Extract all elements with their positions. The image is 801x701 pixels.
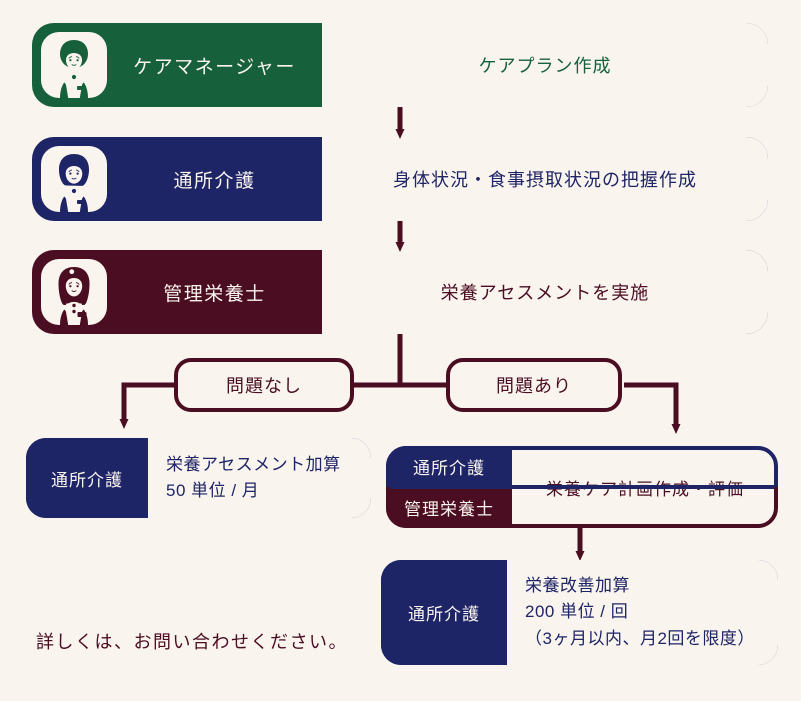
outcome-role-tag: 通所介護 (26, 438, 148, 518)
stage-role-label: 通所介護 (107, 166, 322, 193)
stage-role-side: ケアマネージャー (32, 23, 322, 107)
dietitian-avatar-icon (41, 259, 107, 325)
outcome-line: 栄養アセスメント加算 (166, 452, 371, 478)
stage-task-label: 栄養アセスメントを実施 (322, 250, 768, 334)
outcome-role-label: 管理栄養士 (404, 495, 494, 520)
branch-label-text: 問題あり (496, 372, 572, 398)
stage-role-label: 管理栄養士 (107, 279, 322, 306)
outcome-role-tag-dietitian: 管理栄養士 (386, 487, 512, 528)
outcome-nutrition-care-plan: 通所介護 管理栄養士 栄養ケア計画作成・評価 (386, 446, 778, 528)
branch-label-text: 問題なし (226, 372, 302, 398)
outcome-body: 栄養アセスメント加算 50 単位 / 月 (148, 438, 371, 518)
outcome-body: 栄養ケア計画作成・評価 (512, 446, 778, 528)
stage-role-side: 通所介護 (32, 137, 322, 221)
outcome-line: 栄養改善加算 (525, 573, 778, 599)
outcome-role-label: 通所介護 (408, 600, 480, 625)
outcome-role-label: 通所介護 (413, 454, 485, 479)
connector-right-branch (624, 385, 676, 425)
day-service-staff-avatar-icon (41, 146, 107, 212)
care-flow-diagram: ケアマネージャー ケアプラン作成 (0, 0, 801, 701)
stage-day-service-assessment: 通所介護 身体状況・食事摂取状況の把握作成 (32, 137, 768, 221)
outcome-line: （3ヶ月以内、月2回を限度） (525, 626, 778, 652)
contact-footnote: 詳しくは、お問い合わせください。 (36, 628, 348, 654)
care-manager-avatar-icon (41, 32, 107, 98)
outcome-body-text: 栄養ケア計画作成・評価 (546, 475, 744, 500)
stage-dietitian: 管理栄養士 栄養アセスメントを実施 (32, 250, 768, 334)
connector-left-branch (124, 385, 176, 420)
outcome-line: 200 単位 / 回 (525, 599, 778, 625)
branch-label-no-problem: 問題なし (174, 358, 354, 412)
outcome-line: 50 単位 / 月 (166, 478, 371, 504)
outcome-body: 栄養改善加算 200 単位 / 回 （3ヶ月以内、月2回を限度） (507, 560, 778, 665)
outcome-role-tag: 通所介護 (381, 560, 507, 665)
outcome-nutrition-assessment-addition: 通所介護 栄養アセスメント加算 50 単位 / 月 (26, 438, 371, 518)
outcome-role-tag-day-service: 通所介護 (386, 446, 512, 487)
stage-task-label: 身体状況・食事摂取状況の把握作成 (322, 137, 768, 221)
branch-label-problem: 問題あり (446, 358, 622, 412)
stage-care-manager: ケアマネージャー ケアプラン作成 (32, 23, 768, 107)
stage-role-side: 管理栄養士 (32, 250, 322, 334)
outcome-role-label: 通所介護 (51, 466, 123, 491)
outcome-nutrition-improvement-addition: 通所介護 栄養改善加算 200 単位 / 回 （3ヶ月以内、月2回を限度） (381, 560, 778, 665)
stage-role-label: ケアマネージャー (107, 52, 322, 79)
outcome-role-tags: 通所介護 管理栄養士 (386, 446, 512, 528)
stage-task-label: ケアプラン作成 (322, 23, 768, 107)
